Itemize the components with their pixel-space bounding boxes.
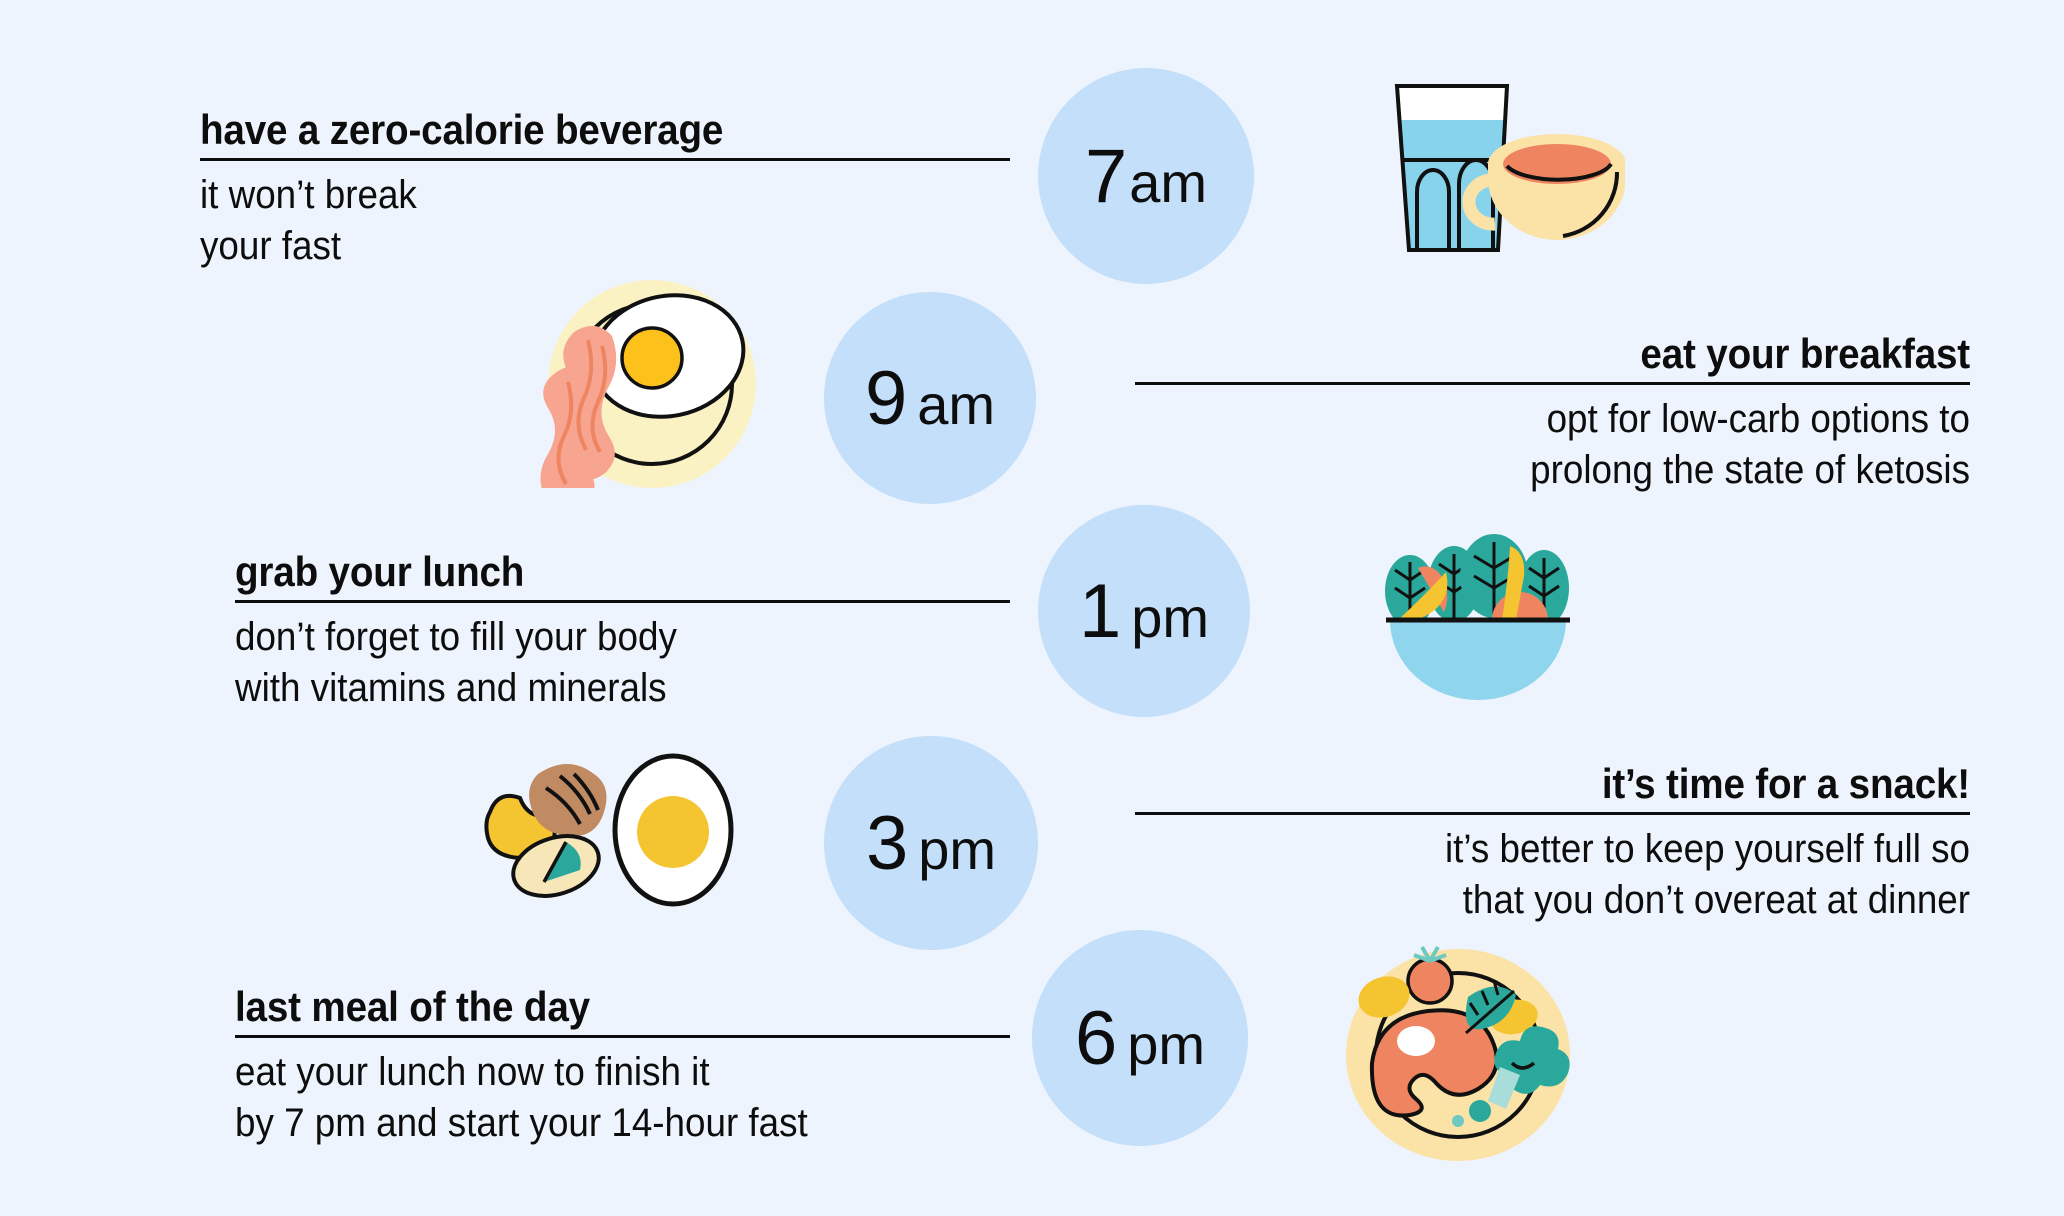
heading-breakfast: eat your breakfast [1202, 332, 1970, 382]
time-period: pm [1131, 585, 1209, 650]
body-line: that you don’t overeat at dinner [1202, 875, 1970, 926]
body-line: with vitamins and minerals [235, 663, 948, 714]
time-hour: 9 [865, 355, 907, 442]
illustration-nuts-and-boiled-egg [460, 750, 750, 910]
body-line: it won’t break [200, 170, 945, 221]
body-dinner: eat your lunch now to finish it by 7 pm … [235, 1038, 948, 1149]
schedule-text-breakfast: eat your breakfast opt for low-carb opti… [1135, 332, 1970, 496]
time-badge-9am[interactable]: 9 am [824, 292, 1036, 504]
illustration-water-glass-and-tea-cup [1355, 68, 1625, 268]
time-hour: 6 [1075, 995, 1117, 1082]
heading-zero-calorie-beverage: have a zero-calorie beverage [200, 108, 945, 158]
heading-snack: it’s time for a snack! [1202, 762, 1970, 812]
time-label-9am: 9 am [865, 355, 995, 442]
time-period: am [917, 372, 995, 437]
time-label-6pm: 6 pm [1075, 995, 1205, 1082]
time-label-7am: 7 am [1085, 133, 1207, 220]
time-period: am [1129, 150, 1207, 215]
time-label-3pm: 3 pm [866, 800, 996, 887]
time-hour: 3 [866, 800, 908, 887]
time-badge-1pm[interactable]: 1 pm [1038, 505, 1250, 717]
illustration-salad-bowl [1368, 528, 1588, 708]
body-breakfast: opt for low-carb options to prolong the … [1202, 385, 1970, 496]
time-period: pm [1127, 1012, 1205, 1077]
time-hour: 1 [1079, 568, 1121, 655]
schedule-text-zero-calorie-beverage: have a zero-calorie beverage it won’t br… [200, 108, 1010, 272]
body-line: your fast [200, 221, 945, 272]
heading-lunch: grab your lunch [235, 550, 948, 600]
body-lunch: don’t forget to fill your body with vita… [235, 603, 948, 714]
body-line: don’t forget to fill your body [235, 612, 948, 663]
body-line: it’s better to keep yourself full so [1202, 824, 1970, 875]
heading-dinner: last meal of the day [235, 985, 948, 1035]
body-line: eat your lunch now to finish it [235, 1047, 948, 1098]
intermittent-fasting-schedule-infographic: have a zero-calorie beverage it won’t br… [0, 0, 2064, 1216]
schedule-text-snack: it’s time for a snack! it’s better to ke… [1135, 762, 1970, 926]
illustration-salmon-dinner-plate [1338, 945, 1578, 1165]
time-badge-7am[interactable]: 7 am [1038, 68, 1254, 284]
body-line: prolong the state of ketosis [1202, 445, 1970, 496]
schedule-text-lunch: grab your lunch don’t forget to fill you… [235, 550, 1010, 714]
body-line: by 7 pm and start your 14-hour fast [235, 1098, 948, 1149]
schedule-text-dinner: last meal of the day eat your lunch now … [235, 985, 1010, 1149]
time-badge-6pm[interactable]: 6 pm [1032, 930, 1248, 1146]
illustration-fried-egg-and-bacon [540, 278, 780, 488]
time-label-1pm: 1 pm [1079, 568, 1209, 655]
body-zero-calorie-beverage: it won’t break your fast [200, 161, 945, 272]
time-badge-3pm[interactable]: 3 pm [824, 736, 1038, 950]
body-snack: it’s better to keep yourself full so tha… [1202, 815, 1970, 926]
time-period: pm [918, 817, 996, 882]
body-line: opt for low-carb options to [1202, 394, 1970, 445]
time-hour: 7 [1085, 133, 1127, 220]
